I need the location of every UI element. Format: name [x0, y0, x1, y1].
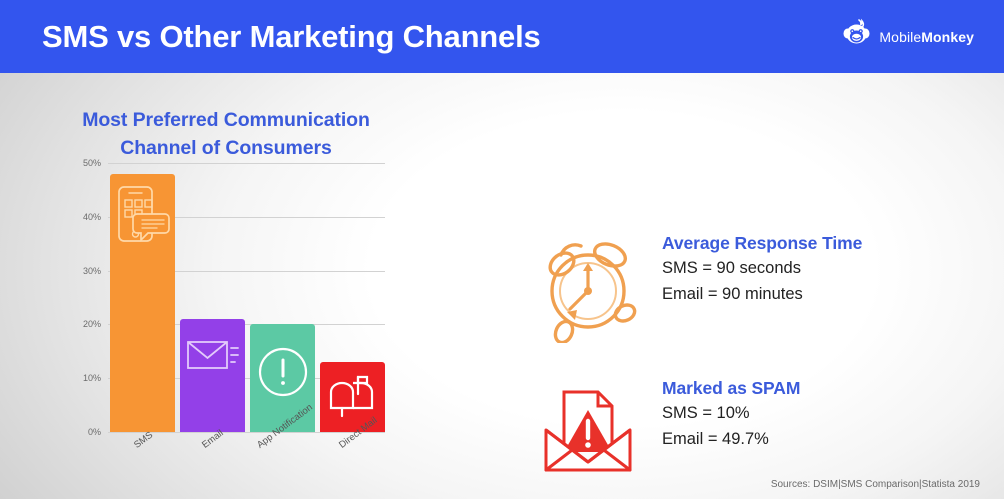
bar-email[interactable] — [180, 319, 245, 432]
y-tick-label-0: 0% — [88, 427, 101, 437]
chart-title-line-1: Most Preferred Communication — [36, 106, 416, 134]
y-tick-label-10: 10% — [83, 373, 101, 383]
page-title: SMS vs Other Marketing Channels — [42, 19, 541, 55]
y-tick-label-40: 40% — [83, 212, 101, 222]
stat-line-response-sms: SMS = 90 seconds — [662, 255, 862, 281]
stat-heading-response-time: Average Response Time — [662, 231, 862, 255]
bar-chart-panel: Most Preferred Communication Channel of … — [0, 73, 470, 499]
stat-block-spam: Marked as SPAM SMS = 10% Email = 49.7% — [536, 376, 800, 485]
y-tick-label-50: 50% — [83, 158, 101, 168]
chart-title: Most Preferred Communication Channel of … — [36, 106, 416, 162]
sources-note: Sources: DSIM|SMS Comparison|Statista 20… — [771, 479, 980, 490]
stat-heading-spam: Marked as SPAM — [662, 376, 800, 400]
chart-plot-area: 50% 40% 30% 20% 10% 0% — [108, 163, 385, 432]
brand-name-light: Mobile — [879, 29, 921, 45]
brand-logo[interactable]: MobileMonkey — [840, 17, 974, 56]
y-tick-label-30: 30% — [83, 266, 101, 276]
phone-message-icon — [115, 184, 171, 251]
monkey-face-icon — [840, 17, 874, 56]
stat-line-spam-sms: SMS = 10% — [662, 400, 800, 426]
gridline-50: 50% — [108, 163, 385, 164]
stat-text-response-time: Average Response Time SMS = 90 seconds E… — [662, 231, 862, 307]
y-tick-label-20: 20% — [83, 319, 101, 329]
stat-line-spam-email: Email = 49.7% — [662, 426, 800, 452]
stat-text-spam: Marked as SPAM SMS = 10% Email = 49.7% — [662, 376, 800, 452]
bar-sms[interactable] — [110, 174, 175, 432]
spam-envelope-icon — [536, 376, 640, 485]
stat-block-response-time: Average Response Time SMS = 90 seconds E… — [536, 231, 862, 348]
header-banner: SMS vs Other Marketing Channels MobileMo… — [0, 0, 1004, 73]
alarm-clock-icon — [536, 231, 640, 348]
main-canvas: Most Preferred Communication Channel of … — [0, 73, 1004, 499]
alert-circle-icon — [257, 346, 309, 403]
brand-name: MobileMonkey — [879, 29, 974, 45]
stat-line-response-email: Email = 90 minutes — [662, 281, 862, 307]
brand-name-bold: Monkey — [921, 29, 974, 45]
envelope-icon — [186, 336, 240, 379]
